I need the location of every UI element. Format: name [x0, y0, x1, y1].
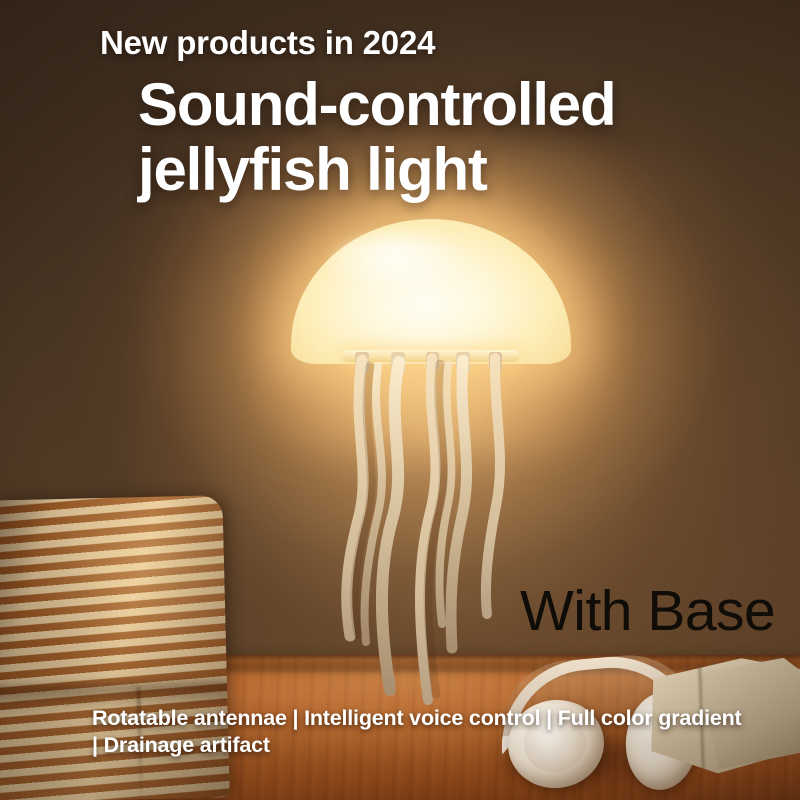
with-base-badge: With Base — [520, 578, 775, 644]
eyebrow-text: New products in 2024 — [100, 24, 435, 62]
product-ad-image: New products in 2024 Sound-controlled je… — [0, 0, 800, 800]
page-title: Sound-controlled jellyfish light — [138, 73, 758, 203]
feature-list-text: Rotatable antennae | Intelligent voice c… — [92, 705, 752, 759]
